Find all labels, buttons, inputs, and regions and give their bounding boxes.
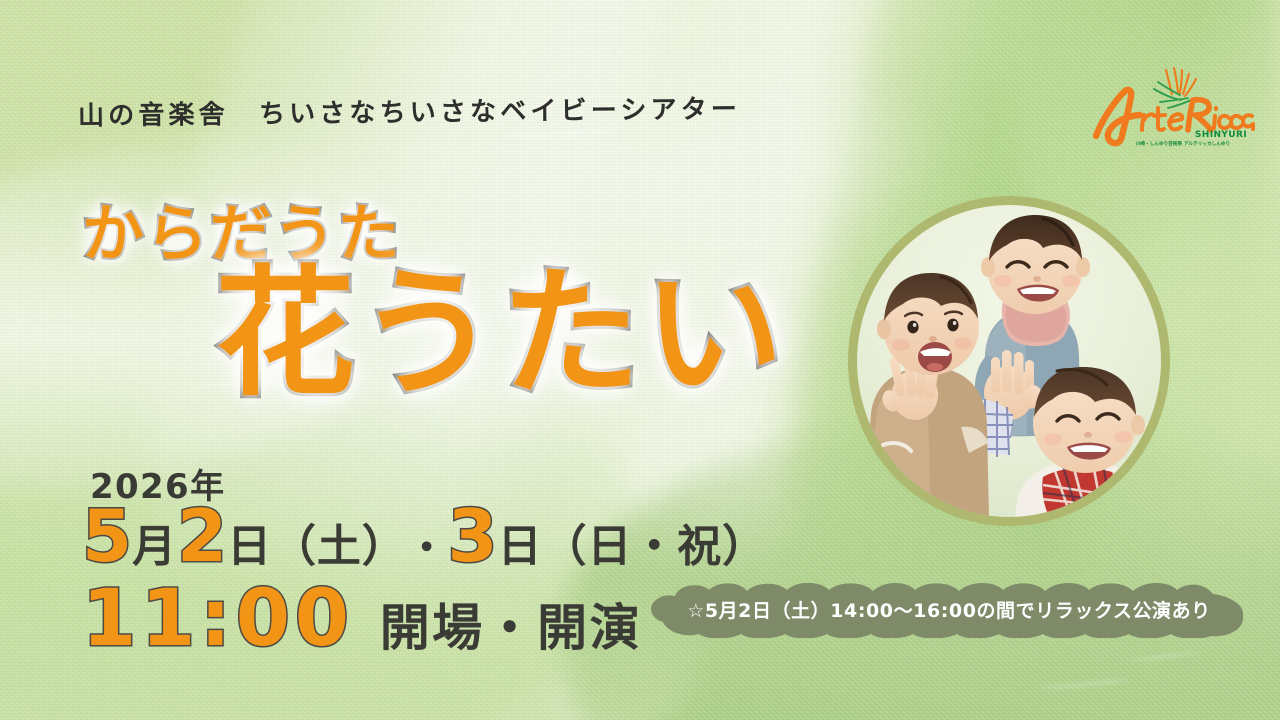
photo-ring-border [848, 196, 1170, 526]
date-day1-number: 2 [177, 500, 227, 572]
svg-text:SHINYURI: SHINYURI [1195, 130, 1247, 140]
arte-ricca-logo[interactable]: SHINYURI 川崎・しんゆり芸術祭 アルテリッカしんゆり [1088, 58, 1258, 150]
header-subtitle: 山の音楽舎 ちいさなちいさなベイビーシアター [78, 89, 741, 133]
poster-canvas: 山の音楽舎 ちいさなちいさなベイビーシアター [0, 0, 1280, 720]
schedule-dates: 5 月 2 日（土） ・ 3 日（日・祝） [82, 500, 767, 574]
relax-performance-text: ☆5月2日（土）14:00〜16:00の間でリラックス公演あり [645, 582, 1253, 638]
title-main: 花うたい [215, 265, 786, 405]
time-value: 11:00 [82, 580, 354, 658]
schedule-time: 11:00 開場・開演 [82, 580, 642, 660]
logo-caption: 川崎・しんゆり芸術祭 アルテリッカしんゆり [1110, 143, 1256, 148]
time-label: 開場・開演 [380, 588, 643, 660]
date-month-number: 5 [82, 500, 132, 572]
date-day2-label: 日（日・祝） [498, 510, 767, 574]
date-month-kanji: 月 [132, 510, 177, 574]
date-day2-number: 3 [447, 500, 497, 572]
date-day1-label: 日（土） [227, 510, 407, 574]
babies-photo [848, 196, 1170, 526]
date-separator: ・ [407, 515, 448, 573]
relax-performance-banner: ☆5月2日（土）14:00〜16:00の間でリラックス公演あり [645, 582, 1253, 638]
